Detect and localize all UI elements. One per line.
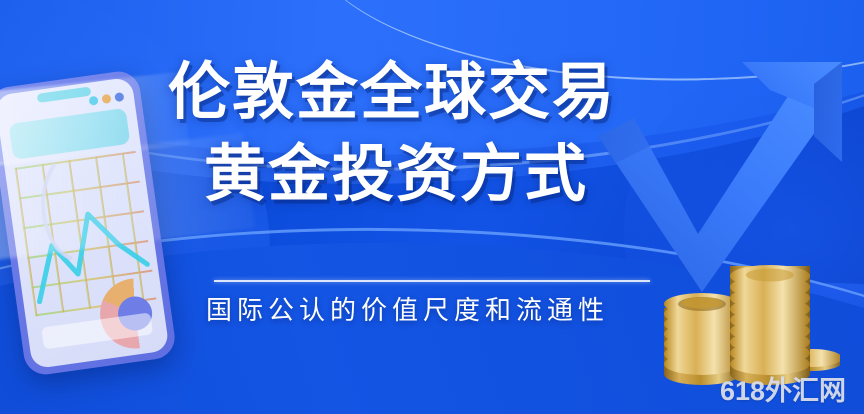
status-dot-cyan-icon xyxy=(89,96,99,106)
headline-block: 伦敦金全球交易 黄金投资方式 xyxy=(168,62,708,206)
phone-status-dots xyxy=(89,92,125,106)
headline-line-2: 黄金投资方式 xyxy=(204,144,708,206)
phone-notch-speaker xyxy=(37,87,92,103)
status-dot-orange-icon xyxy=(101,94,111,104)
smartphone-trading-chart-illustration xyxy=(0,69,177,377)
headline-line-1: 伦敦金全球交易 xyxy=(168,62,708,124)
promo-banner: 伦敦金全球交易 黄金投资方式 国际公认的价值尺度和流通性 618外汇网 xyxy=(0,0,864,414)
site-watermark: 618外汇网 xyxy=(720,369,846,408)
headline-divider xyxy=(214,280,650,282)
status-dot-blue-icon xyxy=(114,92,124,102)
subtitle-text: 国际公认的价值尺度和流通性 xyxy=(206,294,666,328)
